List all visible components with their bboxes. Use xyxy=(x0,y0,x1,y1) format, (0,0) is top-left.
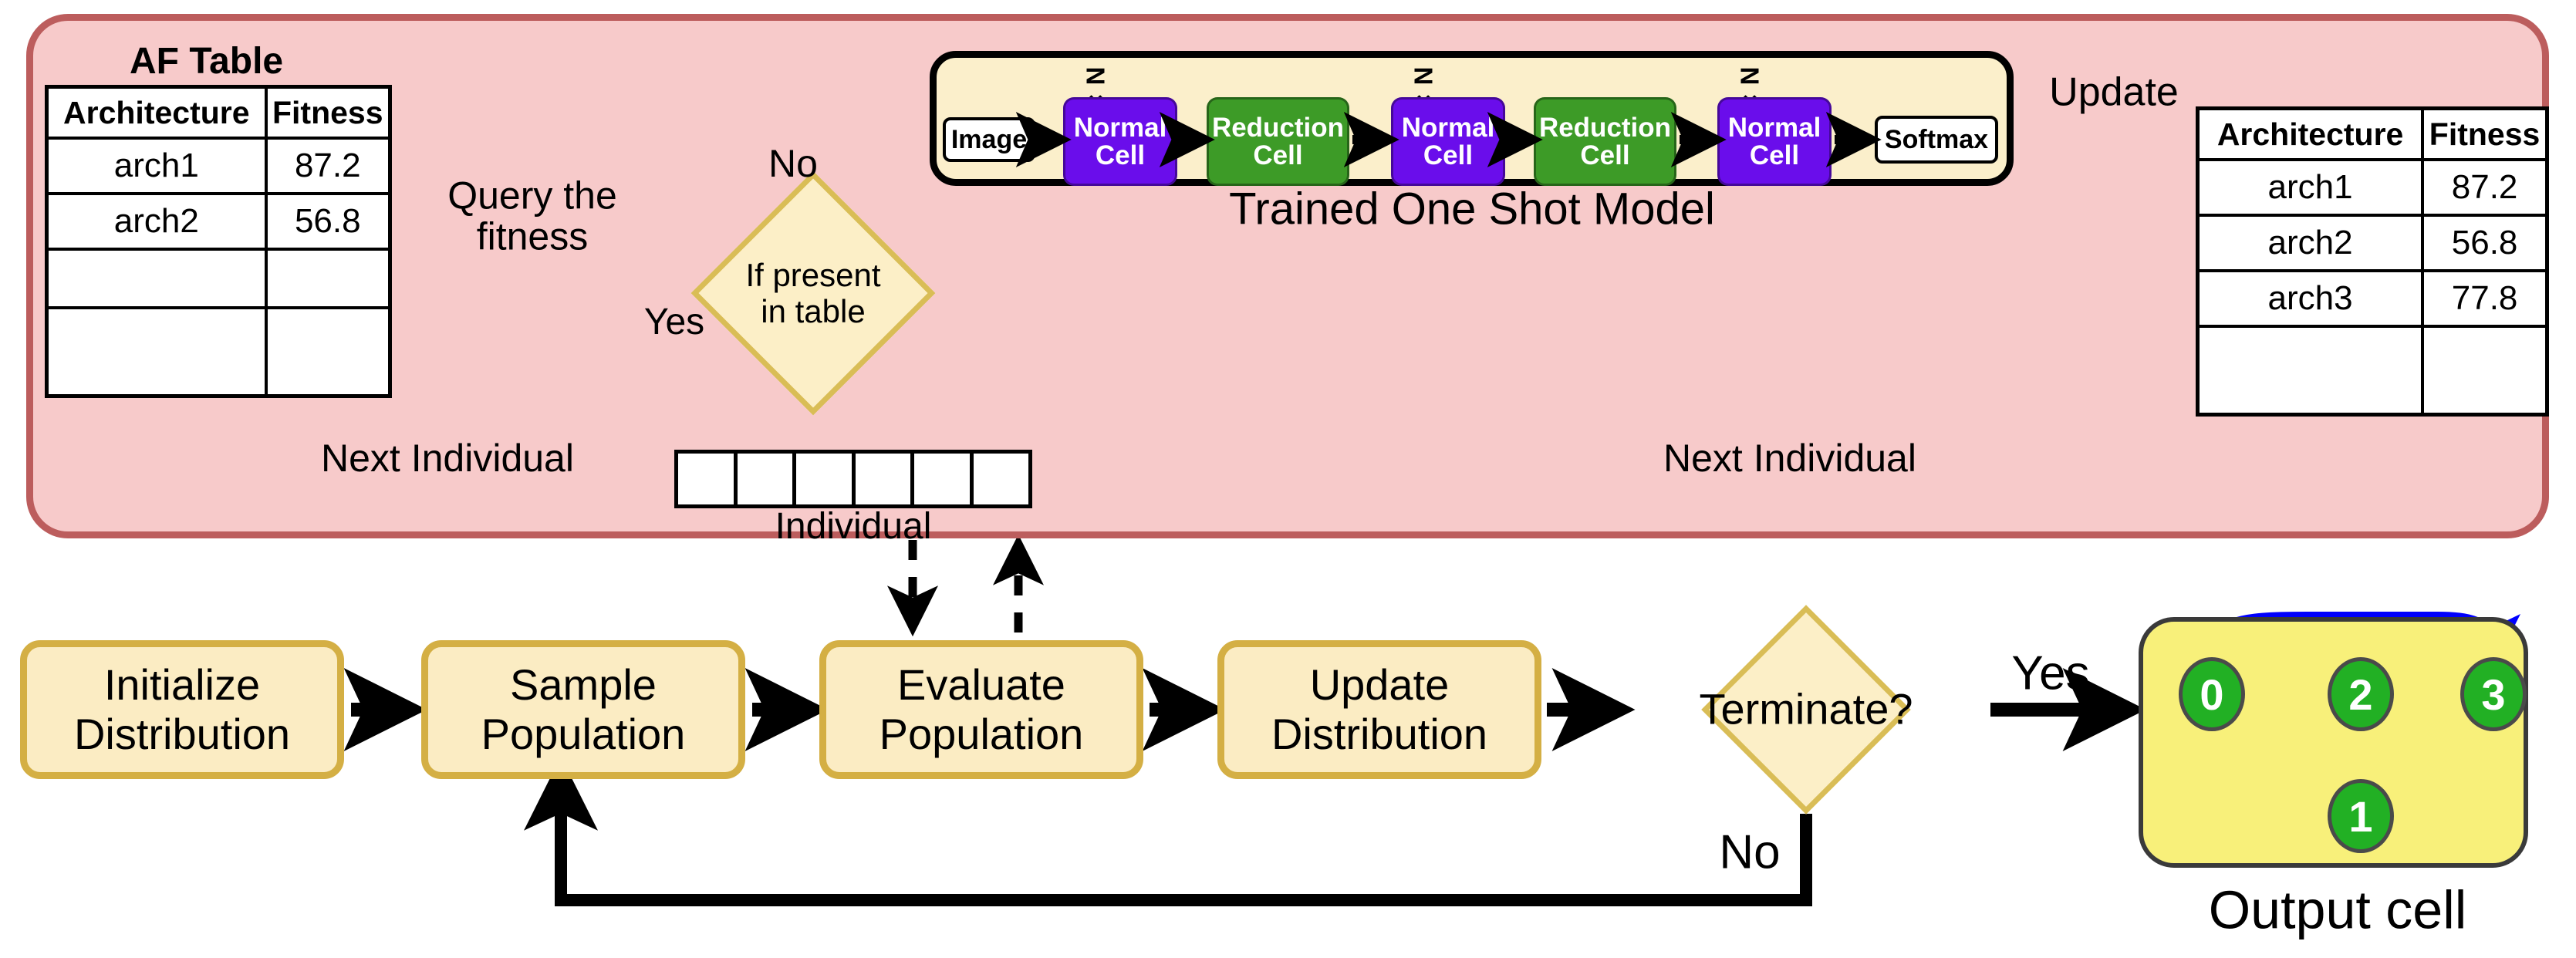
cell-arch: arch3 xyxy=(2198,271,2423,326)
table-row: arch2 56.8 xyxy=(2198,215,2547,271)
box-line-2: Distribution xyxy=(1271,710,1487,758)
label-query-line-1: Query the xyxy=(447,176,617,217)
box-line-1: Initialize xyxy=(104,660,260,709)
individual-cell xyxy=(678,454,738,504)
box-update-distribution[interactable]: Update Distribution xyxy=(1217,640,1541,779)
diagram-canvas: AF Table Architecture Fitness arch1 87.2… xyxy=(0,0,2576,958)
left-af-table-title: AF Table xyxy=(130,40,283,83)
label-terminate-no: No xyxy=(1719,827,1780,877)
cell-fitness: 87.2 xyxy=(266,138,390,194)
box-line-2: Distribution xyxy=(74,710,290,758)
decision-line-2: in table xyxy=(745,293,880,329)
table-row: arch1 87.2 xyxy=(47,138,390,194)
cell-fitness xyxy=(2422,326,2547,415)
label-next-individual-right: Next Individual xyxy=(1663,438,1916,479)
label-no-branch: No xyxy=(768,143,818,184)
cell-arch: arch1 xyxy=(47,138,266,194)
graph-node-0: 0 xyxy=(2179,657,2245,731)
col-architecture: Architecture xyxy=(2198,109,2423,160)
individual-cell xyxy=(914,454,974,504)
cell-fitness: 87.2 xyxy=(2422,160,2547,215)
cell-arch: arch2 xyxy=(2198,215,2423,271)
table-row xyxy=(2198,326,2547,415)
table-row xyxy=(47,308,390,396)
table-row: arch3 77.8 xyxy=(2198,271,2547,326)
table-row: arch1 87.2 xyxy=(2198,160,2547,215)
table-row: arch2 56.8 xyxy=(47,194,390,249)
table-header-row: Architecture Fitness xyxy=(2198,109,2547,160)
label-individual: Individual xyxy=(775,508,932,546)
box-sample-population[interactable]: Sample Population xyxy=(421,640,745,779)
decision-terminate-label: Terminate? xyxy=(1699,686,1913,734)
cell-arch: arch1 xyxy=(2198,160,2423,215)
box-evaluate-population[interactable]: Evaluate Population xyxy=(819,640,1143,779)
individual-cell xyxy=(796,454,856,504)
individual-cell xyxy=(856,454,915,504)
box-line-2: Population xyxy=(879,710,1084,758)
cell-fitness xyxy=(266,308,390,396)
label-yes-branch: Yes xyxy=(644,303,704,342)
graph-node-1: 1 xyxy=(2328,779,2394,853)
cell-fitness xyxy=(266,249,390,308)
graph-node-3: 3 xyxy=(2460,657,2527,731)
label-next-individual-left: Next Individual xyxy=(321,438,574,479)
individual-cell xyxy=(974,454,1029,504)
graph-node-2: 2 xyxy=(2328,657,2394,731)
decision-line-1: If present xyxy=(745,257,880,293)
cell-arch xyxy=(47,249,266,308)
cell-fitness: 56.8 xyxy=(266,194,390,249)
cell-arch xyxy=(47,308,266,396)
table-row xyxy=(47,249,390,308)
label-update: Update xyxy=(2049,72,2179,114)
col-fitness: Fitness xyxy=(2422,109,2547,160)
label-query-the-fitness: Query the fitness xyxy=(447,176,617,257)
right-af-table: Architecture Fitness arch1 87.2 arch2 56… xyxy=(2196,106,2549,417)
col-architecture: Architecture xyxy=(47,87,266,139)
label-trained-one-shot-model: Trained One Shot Model xyxy=(1229,187,1715,234)
table-header-row: Architecture Fitness xyxy=(47,87,390,139)
cell-arch xyxy=(2198,326,2423,415)
box-initialize-distribution[interactable]: Initialize Distribution xyxy=(20,640,344,779)
cell-fitness: 77.8 xyxy=(2422,271,2547,326)
label-query-line-2: fitness xyxy=(447,216,617,257)
individual-genome-strip xyxy=(674,450,1032,508)
col-fitness: Fitness xyxy=(266,87,390,139)
box-line-1: Evaluate xyxy=(897,660,1065,709)
oneshot-internal-arrows xyxy=(926,46,2021,193)
label-output-cell: Output cell xyxy=(2209,882,2467,939)
individual-cell xyxy=(738,454,797,504)
box-line-1: Sample xyxy=(510,660,657,709)
cell-arch: arch2 xyxy=(47,194,266,249)
left-af-table: Architecture Fitness arch1 87.2 arch2 56… xyxy=(45,85,392,398)
label-terminate-yes: Yes xyxy=(2011,648,2089,698)
box-line-2: Population xyxy=(481,710,686,758)
arrow-terminate-no-loop xyxy=(561,771,1806,900)
cell-fitness: 56.8 xyxy=(2422,215,2547,271)
decision-if-present-label: If present in table xyxy=(745,257,880,329)
box-line-1: Update xyxy=(1310,660,1450,709)
